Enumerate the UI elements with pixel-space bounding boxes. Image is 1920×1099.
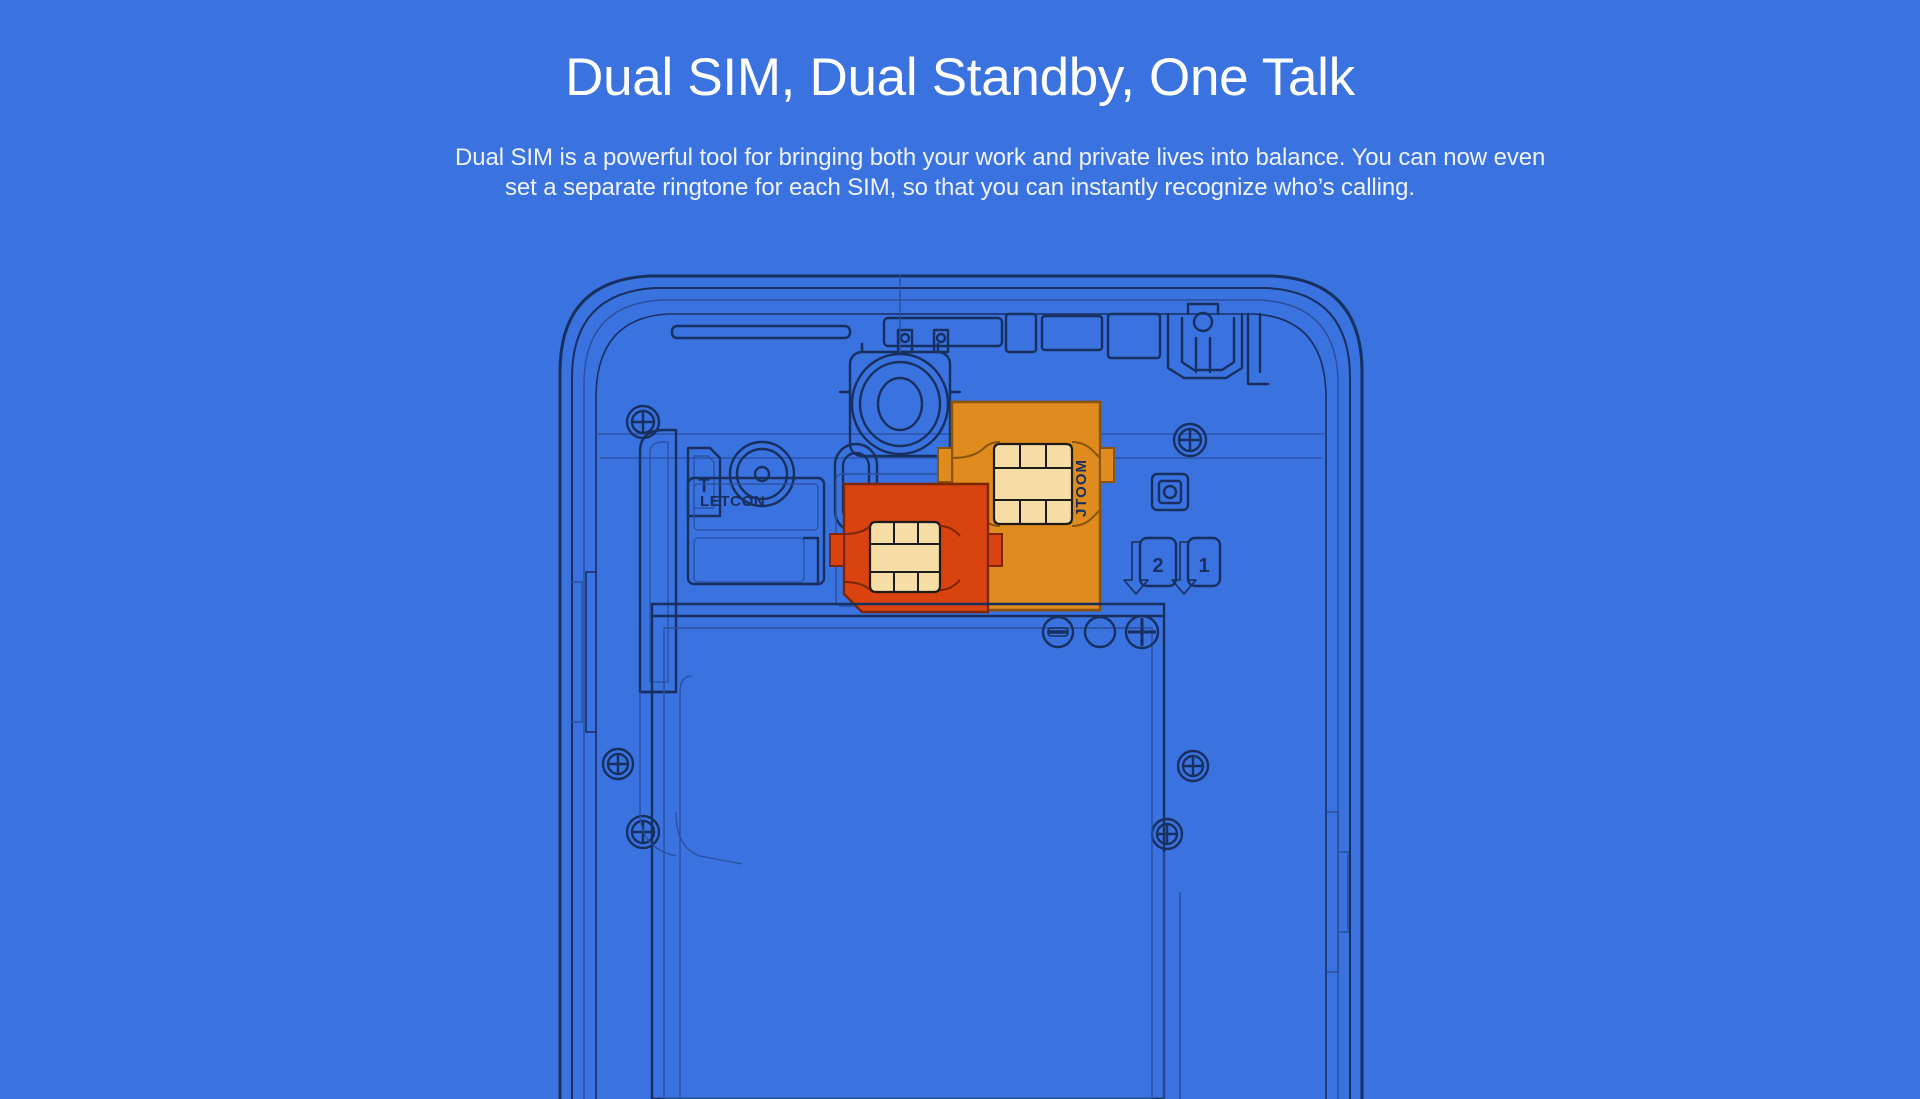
phone-top-edge-details — [672, 304, 1268, 384]
phone-lower-side-detail — [1164, 812, 1348, 1099]
sim-slot-marker-2: 2 — [1124, 538, 1176, 594]
screw-bottom-left — [603, 749, 633, 779]
sim-slot-number-markers: 2 1 — [1124, 538, 1220, 594]
screw-mid-right — [1152, 819, 1182, 849]
phone-diagram-svg: T LETCON — [0, 252, 1920, 1099]
rear-camera-module — [840, 276, 960, 456]
screw-bottom-right — [1178, 751, 1208, 781]
page-subtitle-line-1: Dual SIM is a powerful tool for bringing… — [455, 143, 1465, 172]
page-subtitle: Dual SIM is a powerful tool for bringing… — [455, 143, 1465, 202]
screw-top-left — [627, 406, 659, 438]
battery-terminal-blank — [1085, 617, 1115, 647]
screw-top-right — [1174, 424, 1206, 456]
battery-terminal-negative — [1043, 617, 1073, 647]
header-block: Dual SIM, Dual Standby, One Talk Dual SI… — [0, 0, 1920, 202]
battery-compartment — [640, 604, 1164, 1099]
phone-illustration-stage: T LETCON — [0, 252, 1920, 1099]
volume-rocker — [640, 430, 676, 692]
headphone-jack — [1168, 304, 1242, 378]
top-speaker-slot — [672, 326, 850, 338]
connector-brand-label: LETCON — [700, 493, 765, 510]
page-subtitle-line-2: set a separate ringtone for each SIM, so… — [455, 173, 1465, 202]
flex-cable-connector: LETCON — [688, 478, 824, 584]
sim-slot-1-number: 1 — [1198, 555, 1209, 577]
sim-slot-marker-1: 1 — [1172, 538, 1220, 594]
dual-sim-feature-page: Dual SIM, Dual Standby, One Talk Dual SI… — [0, 0, 1920, 1099]
sim-slot-2-number: 2 — [1152, 555, 1163, 577]
sim-card-brand-label: JTOOM — [1073, 459, 1090, 517]
antenna-contact — [1152, 474, 1188, 510]
page-title: Dual SIM, Dual Standby, One Talk — [0, 48, 1920, 107]
top-bracket-mid — [1006, 314, 1036, 352]
battery-terminal-positive — [1126, 616, 1158, 648]
sim-card-slot-2[interactable] — [830, 484, 1002, 612]
